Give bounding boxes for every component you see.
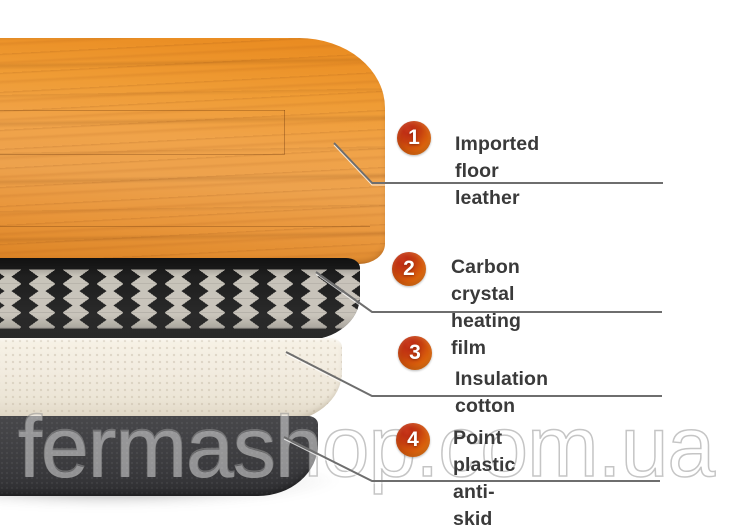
plank-seam xyxy=(0,110,285,111)
layer-anti-skid-pad xyxy=(0,416,318,496)
callout-label-1: Imported floor leather xyxy=(455,131,539,212)
callout-label-2: Carbon crystal heating film xyxy=(451,254,521,362)
callout-number-badge-4: 4 xyxy=(396,423,430,457)
callout-number-badge-3: 3 xyxy=(398,336,432,370)
callout-number-badge-1: 1 xyxy=(397,121,431,155)
plank-seam xyxy=(0,154,285,155)
product-illustration xyxy=(0,0,420,530)
callout-number-badge-2: 2 xyxy=(392,252,426,286)
callout-label-3: Insulation cotton xyxy=(455,366,548,420)
layer-diagram-stage: fermashop.com.ua 1 Imported floor leathe… xyxy=(0,0,734,530)
layer-heating-film xyxy=(0,258,360,340)
plank-seam xyxy=(0,226,370,227)
plank-seam xyxy=(284,110,285,154)
film-shading xyxy=(0,258,360,340)
callout-label-4: Point plastic anti-skid pad xyxy=(453,425,515,530)
layer-floor-leather xyxy=(0,38,385,264)
layer-insulation-cotton xyxy=(0,338,342,422)
